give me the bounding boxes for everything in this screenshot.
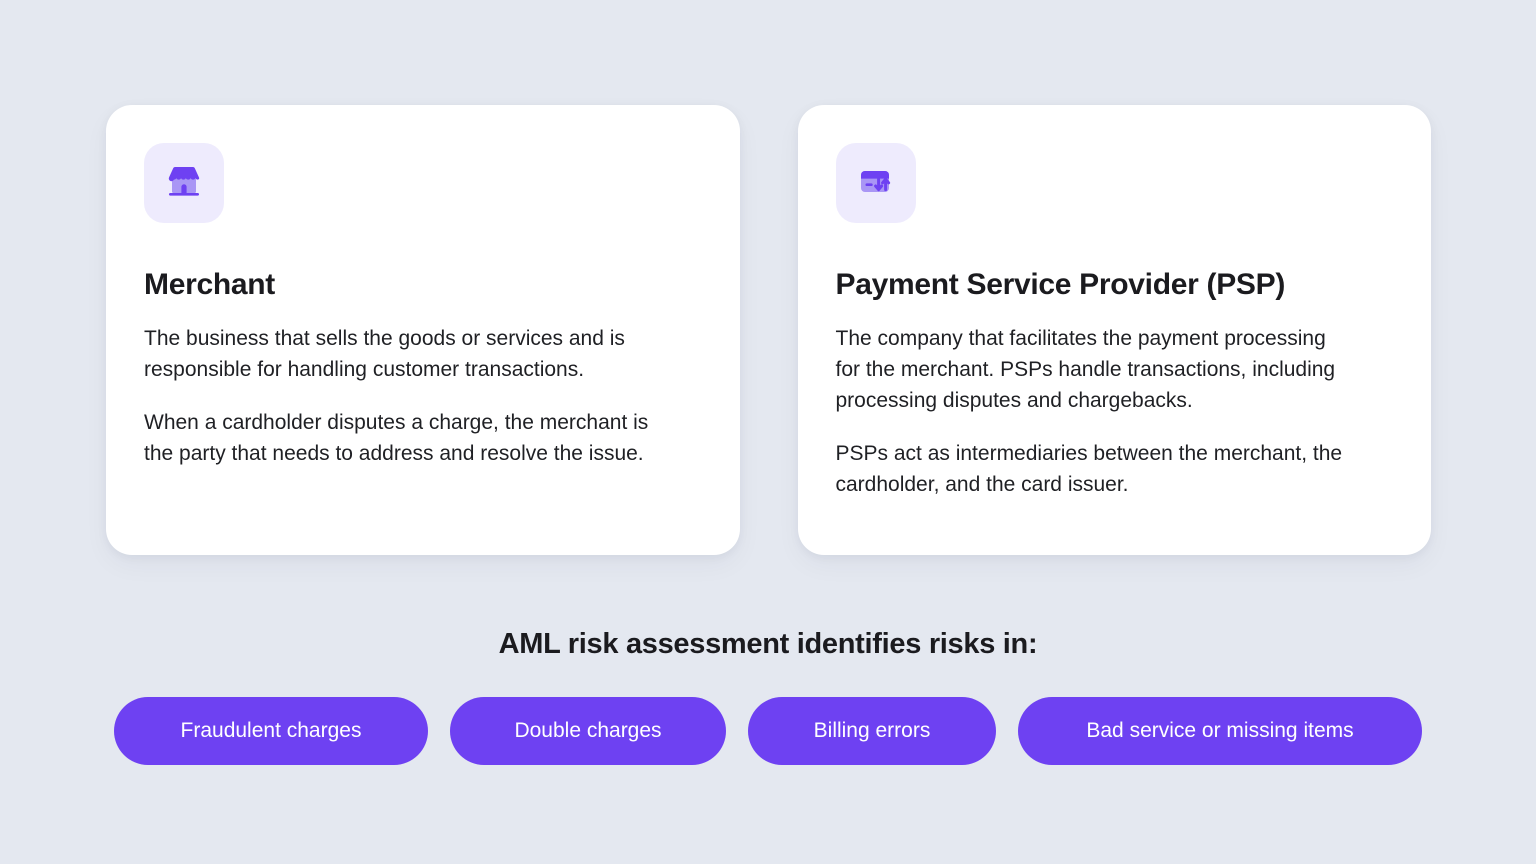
card-title: Merchant [144, 267, 702, 303]
info-cards-row: Merchant The business that sells the goo… [106, 105, 1431, 555]
card-merchant: Merchant The business that sells the goo… [106, 105, 740, 555]
card-paragraph: When a cardholder disputes a charge, the… [144, 407, 654, 469]
risk-pill-billing-errors[interactable]: Billing errors [748, 697, 996, 765]
risk-section: AML risk assessment identifies risks in:… [0, 628, 1536, 765]
payment-card-transfer-icon [854, 159, 898, 208]
risk-pill-fraudulent-charges[interactable]: Fraudulent charges [114, 697, 428, 765]
risk-pill-row: Fraudulent charges Double charges Billin… [0, 697, 1536, 765]
card-paragraph: PSPs act as intermediaries between the m… [836, 438, 1346, 500]
page-root: Merchant The business that sells the goo… [0, 0, 1536, 864]
card-paragraph: The business that sells the goods or ser… [144, 323, 654, 385]
risk-section-heading: AML risk assessment identifies risks in: [0, 628, 1536, 661]
card-payment-service-provider: Payment Service Provider (PSP) The compa… [798, 105, 1432, 555]
storefront-icon [162, 159, 206, 208]
merchant-icon-tile [144, 143, 224, 223]
card-title: Payment Service Provider (PSP) [836, 267, 1394, 303]
psp-icon-tile [836, 143, 916, 223]
card-paragraph: The company that facilitates the payment… [836, 323, 1346, 416]
risk-pill-double-charges[interactable]: Double charges [450, 697, 726, 765]
risk-pill-bad-service-or-missing-items[interactable]: Bad service or missing items [1018, 697, 1422, 765]
